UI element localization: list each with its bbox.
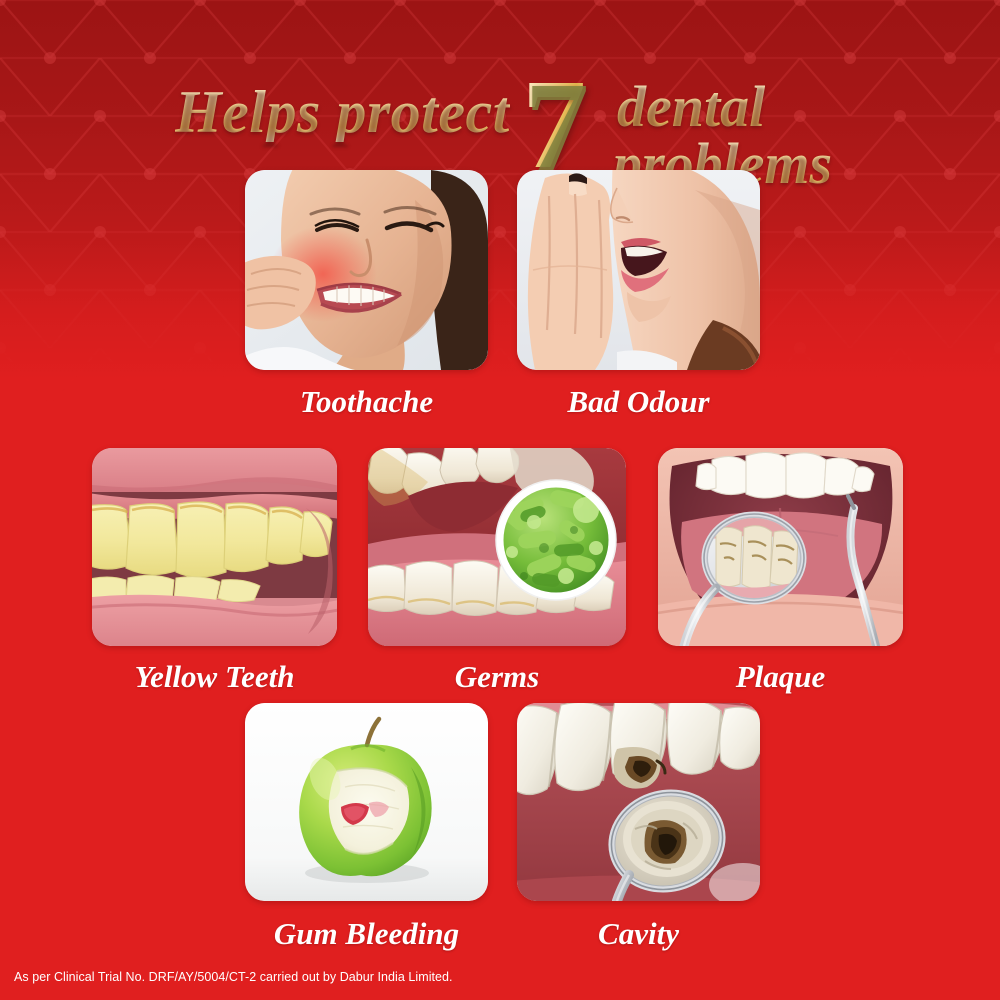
poster-root: Helps protect 7 dental problems <box>0 0 1000 1000</box>
bad-odour-photo-icon <box>517 170 760 370</box>
headline-number-seven: 7 <box>522 60 586 188</box>
clinical-trial-disclaimer: As per Clinical Trial No. DRF/AY/5004/CT… <box>14 970 453 985</box>
problem-card-plaque[interactable] <box>658 448 903 646</box>
caption-germs: Germs <box>368 661 626 692</box>
problem-card-toothache[interactable] <box>245 170 488 370</box>
germs-photo-icon <box>368 448 626 646</box>
caption-plaque: Plaque <box>658 661 903 692</box>
caption-bad-odour: Bad Odour <box>517 386 760 417</box>
caption-toothache: Toothache <box>245 386 488 417</box>
caption-yellow-teeth: Yellow Teeth <box>92 661 337 692</box>
headline-word-dental: dental <box>617 78 765 136</box>
problem-card-germs[interactable] <box>368 448 626 646</box>
problem-card-yellow-teeth[interactable] <box>92 448 337 646</box>
yellow-teeth-photo-icon <box>92 448 337 646</box>
problem-card-cavity[interactable] <box>517 703 760 901</box>
cavity-photo-icon <box>517 703 760 901</box>
page-title: Helps protect 7 dental problems <box>0 42 1000 167</box>
toothache-photo-icon <box>245 170 488 370</box>
problem-card-bad-odour[interactable] <box>517 170 760 370</box>
problem-card-gum-bleeding[interactable] <box>245 703 488 901</box>
caption-cavity: Cavity <box>517 918 760 949</box>
caption-gum-bleeding: Gum Bleeding <box>245 918 488 949</box>
gum-bleeding-photo-icon <box>245 703 488 901</box>
headline-line-1: Helps protect <box>175 82 510 142</box>
plaque-photo-icon <box>658 448 903 646</box>
